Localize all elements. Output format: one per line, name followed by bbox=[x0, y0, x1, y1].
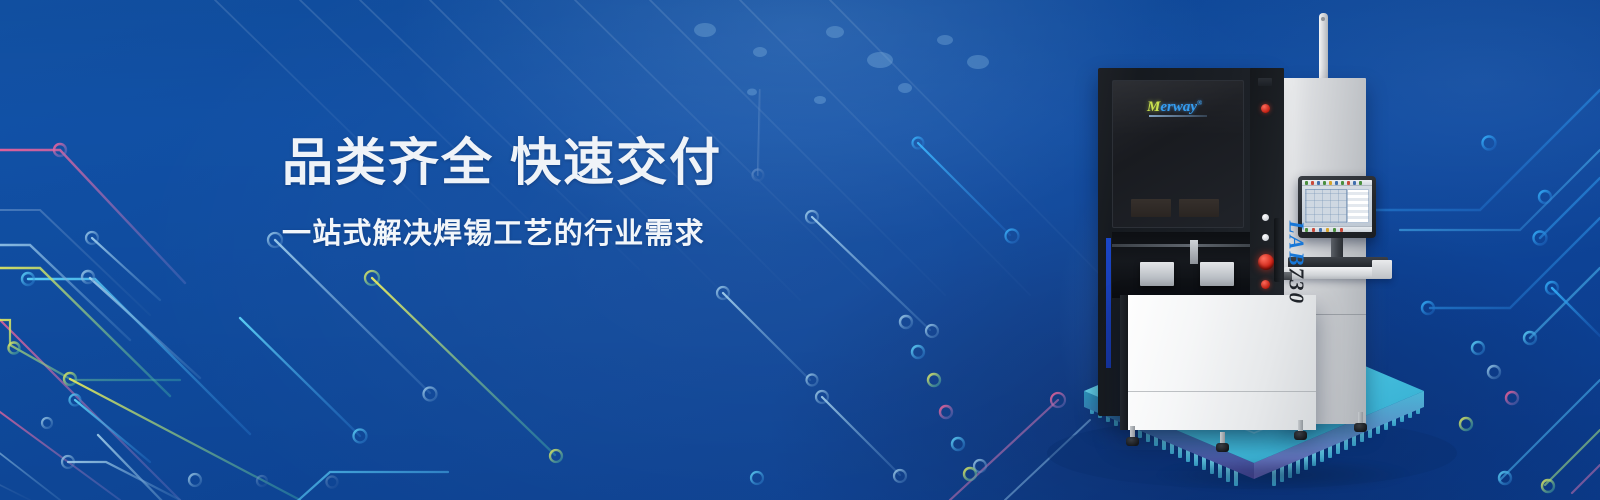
window-panel-right bbox=[1179, 199, 1219, 217]
banner-copy: 品类齐全 快速交付 一站式解决焊锡工艺的行业需求 bbox=[282, 137, 722, 252]
cabinet-viewing-window: Merway® bbox=[1112, 80, 1244, 228]
model-label: LAB730 bbox=[1283, 221, 1308, 305]
page-subtitle: 一站式解决焊锡工艺的行业需求 bbox=[282, 210, 722, 252]
solder-fixture-left bbox=[1140, 262, 1174, 286]
page-title: 品类齐全 快速交付 bbox=[282, 137, 722, 188]
machine-foot bbox=[1126, 426, 1139, 448]
lower-panel-edge bbox=[1120, 295, 1128, 430]
signal-beacon-icon bbox=[1319, 13, 1328, 81]
monitor-graph-area bbox=[1305, 189, 1347, 223]
registered-trademark-icon: ® bbox=[1197, 99, 1202, 107]
monitor-screen[interactable] bbox=[1302, 180, 1372, 232]
logo-underline bbox=[1149, 115, 1207, 117]
window-panel-left bbox=[1131, 199, 1171, 217]
vent-grille-icon bbox=[1258, 78, 1272, 86]
model-number: 730 bbox=[1284, 268, 1308, 306]
product-illustration: Merway® bbox=[1020, 0, 1490, 500]
machine-lower-panel: LAB730 bbox=[1120, 295, 1316, 430]
soldering-machine: Merway® bbox=[1098, 60, 1388, 430]
brand-logo: Merway® bbox=[1147, 99, 1202, 116]
side-module bbox=[1372, 260, 1392, 278]
machine-shadow bbox=[1158, 458, 1408, 492]
lower-panel-seam bbox=[1128, 391, 1316, 392]
machine-interior bbox=[1112, 232, 1270, 298]
machine-foot bbox=[1294, 420, 1307, 442]
status-lamp-red-top[interactable] bbox=[1261, 104, 1270, 113]
control-monitor[interactable] bbox=[1298, 176, 1376, 238]
solder-fixture-right bbox=[1200, 262, 1234, 286]
cabinet-accent-stripe bbox=[1106, 238, 1111, 368]
indicator-white-1[interactable] bbox=[1262, 214, 1269, 221]
machine-foot bbox=[1216, 432, 1229, 454]
logo-m-glyph: M bbox=[1147, 99, 1160, 115]
software-toolbar-bottom bbox=[1302, 226, 1372, 232]
door-handle[interactable] bbox=[1274, 218, 1282, 282]
monitor-data-table bbox=[1347, 189, 1369, 223]
emergency-stop-button[interactable] bbox=[1258, 254, 1274, 270]
hero-banner: 品类齐全 快速交付 一站式解决焊锡工艺的行业需求 bbox=[0, 0, 1600, 500]
indicator-red[interactable] bbox=[1261, 280, 1270, 289]
indicator-white-2[interactable] bbox=[1262, 234, 1269, 241]
software-toolbar-top bbox=[1302, 180, 1372, 186]
model-prefix: LAB bbox=[1284, 221, 1308, 268]
interior-post bbox=[1190, 240, 1198, 264]
logo-text: erway bbox=[1160, 99, 1197, 115]
machine-foot bbox=[1354, 412, 1367, 434]
